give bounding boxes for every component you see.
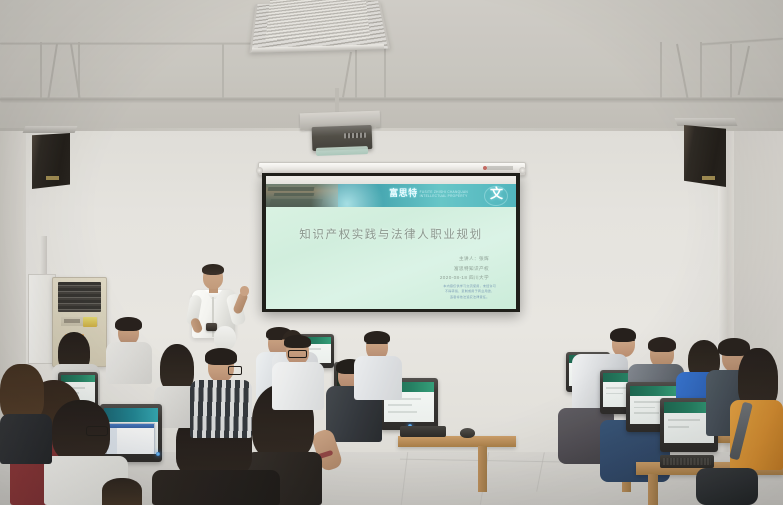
desk-leg-center bbox=[478, 446, 487, 492]
hanger-rod-1 bbox=[40, 42, 42, 98]
person-c5-head bbox=[214, 326, 236, 350]
monitor-c3-text-line bbox=[388, 411, 417, 413]
slide-disclaimer-block: 本内容仅供学习交流使用，未经许可 不得转载、复制或用于商业用途， 违者将依法追究… bbox=[443, 284, 496, 300]
slide-meta-line-3: 2020-08-18 四川大学 bbox=[440, 273, 489, 283]
hanger-rod-5 bbox=[384, 46, 386, 98]
banner-roof-shape-2 bbox=[274, 193, 315, 196]
monitor-r3-text-line bbox=[634, 401, 663, 403]
banner-arc-glow bbox=[310, 184, 384, 207]
monitor-l2-power-led bbox=[156, 452, 160, 456]
slide-meta-line-2: 富思特知识产权 bbox=[440, 264, 489, 274]
person-b3-hair bbox=[160, 344, 194, 392]
person-glasses-eyewear bbox=[288, 350, 307, 358]
speaker-badge-right bbox=[702, 176, 715, 180]
presenter-hair bbox=[202, 264, 224, 275]
projection-screen-surface: 富思特 FUSITE ZHISHI CHANQUAN INTELLECTUAL … bbox=[266, 176, 516, 309]
hanger-rod-4 bbox=[355, 50, 357, 98]
banner-logo-pinyin-bottom: INTELLECTUAL PROPERTY bbox=[420, 194, 468, 198]
ac-brand-logo bbox=[64, 319, 80, 323]
person-b4-body bbox=[354, 356, 402, 400]
monitor-r3-page-header bbox=[630, 386, 676, 396]
housing-end-cap-right bbox=[519, 167, 526, 174]
banner-logo-cn: 富思特 bbox=[389, 189, 418, 198]
hanger-rod-6 bbox=[660, 42, 662, 98]
slide-meta-block: 主讲人：张辉 富思特知识产权 2020-08-18 四川大学 bbox=[440, 254, 489, 283]
hanger-rod-8 bbox=[730, 44, 732, 98]
person-c4-body bbox=[152, 470, 280, 505]
slide-banner: 富思特 FUSITE ZHISHI CHANQUAN INTELLECTUAL … bbox=[266, 184, 516, 207]
banner-roof-shape-1 bbox=[268, 187, 315, 191]
banner-mark-character: 文 bbox=[490, 187, 503, 200]
lecture-hall-photo: 富思特 FUSITE ZHISHI CHANQUAN INTELLECTUAL … bbox=[0, 0, 783, 505]
banner-logo-group: 富思特 FUSITE ZHISHI CHANQUAN INTELLECTUAL … bbox=[389, 189, 468, 198]
person-stripe-body bbox=[190, 380, 252, 438]
slide-title: 知识产权实践与法律人职业规划 bbox=[266, 226, 516, 242]
person-l3-body bbox=[0, 414, 52, 464]
person-l2-glasses bbox=[86, 426, 108, 436]
ac-energy-label bbox=[83, 317, 97, 327]
screen-top-margin bbox=[266, 176, 516, 184]
monitor-r3-text-line bbox=[634, 407, 655, 409]
person-b1-hair bbox=[115, 317, 142, 331]
ceiling bbox=[0, 0, 783, 132]
speaker-badge-left bbox=[46, 176, 59, 180]
presenter-right-hand bbox=[240, 286, 249, 296]
person-r1-hair bbox=[610, 328, 636, 342]
speaker-bracket-left bbox=[23, 126, 78, 133]
monitor-r4-text-line bbox=[668, 426, 689, 428]
hanger-rod-7 bbox=[700, 42, 702, 98]
monitor-r3-text-line bbox=[634, 412, 660, 414]
monitor-l2-page-header bbox=[104, 408, 158, 422]
person-glasses-hair bbox=[284, 335, 311, 348]
mouse-center[interactable] bbox=[460, 428, 475, 438]
projector-ports bbox=[344, 133, 366, 139]
person-r2-hair bbox=[648, 337, 676, 352]
ac-pipe bbox=[40, 236, 47, 278]
slide-disclaimer-line-2: 不得转载、复制或用于商业用途， bbox=[443, 289, 496, 294]
monitor-l1-page-header bbox=[61, 375, 95, 382]
ceiling-light-grille-inner bbox=[265, 0, 370, 40]
ac-vent-slats bbox=[58, 282, 101, 312]
monitor-r4-text-line bbox=[668, 419, 700, 421]
speaker-bracket-right bbox=[675, 118, 738, 126]
wall-speaker-left bbox=[32, 133, 70, 189]
desk-leg-right-front bbox=[648, 474, 658, 505]
slide-meta-line-1: 主讲人：张辉 bbox=[440, 254, 489, 264]
presenter-shirt-placket bbox=[212, 297, 214, 337]
person-r5-bag bbox=[696, 468, 758, 505]
slide-disclaimer-line-3: 违者将依法追究法律责任。 bbox=[443, 295, 496, 300]
person-glasses-body bbox=[272, 362, 324, 410]
person-stripe-hair bbox=[205, 348, 237, 365]
person-stripe-glasses bbox=[228, 366, 242, 375]
ceiling-pipe-main bbox=[0, 96, 783, 103]
person-b4-hair bbox=[364, 331, 390, 344]
projector-pole bbox=[335, 88, 339, 114]
desk-center-front bbox=[398, 436, 516, 447]
keyboard-r4-keys bbox=[663, 458, 711, 465]
monitor-c3-text-line bbox=[388, 404, 412, 406]
person-l4-head bbox=[102, 478, 142, 505]
hanger-rod-3 bbox=[222, 44, 224, 98]
monitor-l2-document-window bbox=[106, 423, 154, 454]
housing-brand-text bbox=[487, 166, 513, 170]
keyboard-center[interactable] bbox=[400, 426, 446, 437]
monitor-r2-text-line bbox=[606, 393, 623, 395]
monitor-l2-screen bbox=[104, 408, 158, 454]
person-b1-body bbox=[106, 342, 152, 384]
